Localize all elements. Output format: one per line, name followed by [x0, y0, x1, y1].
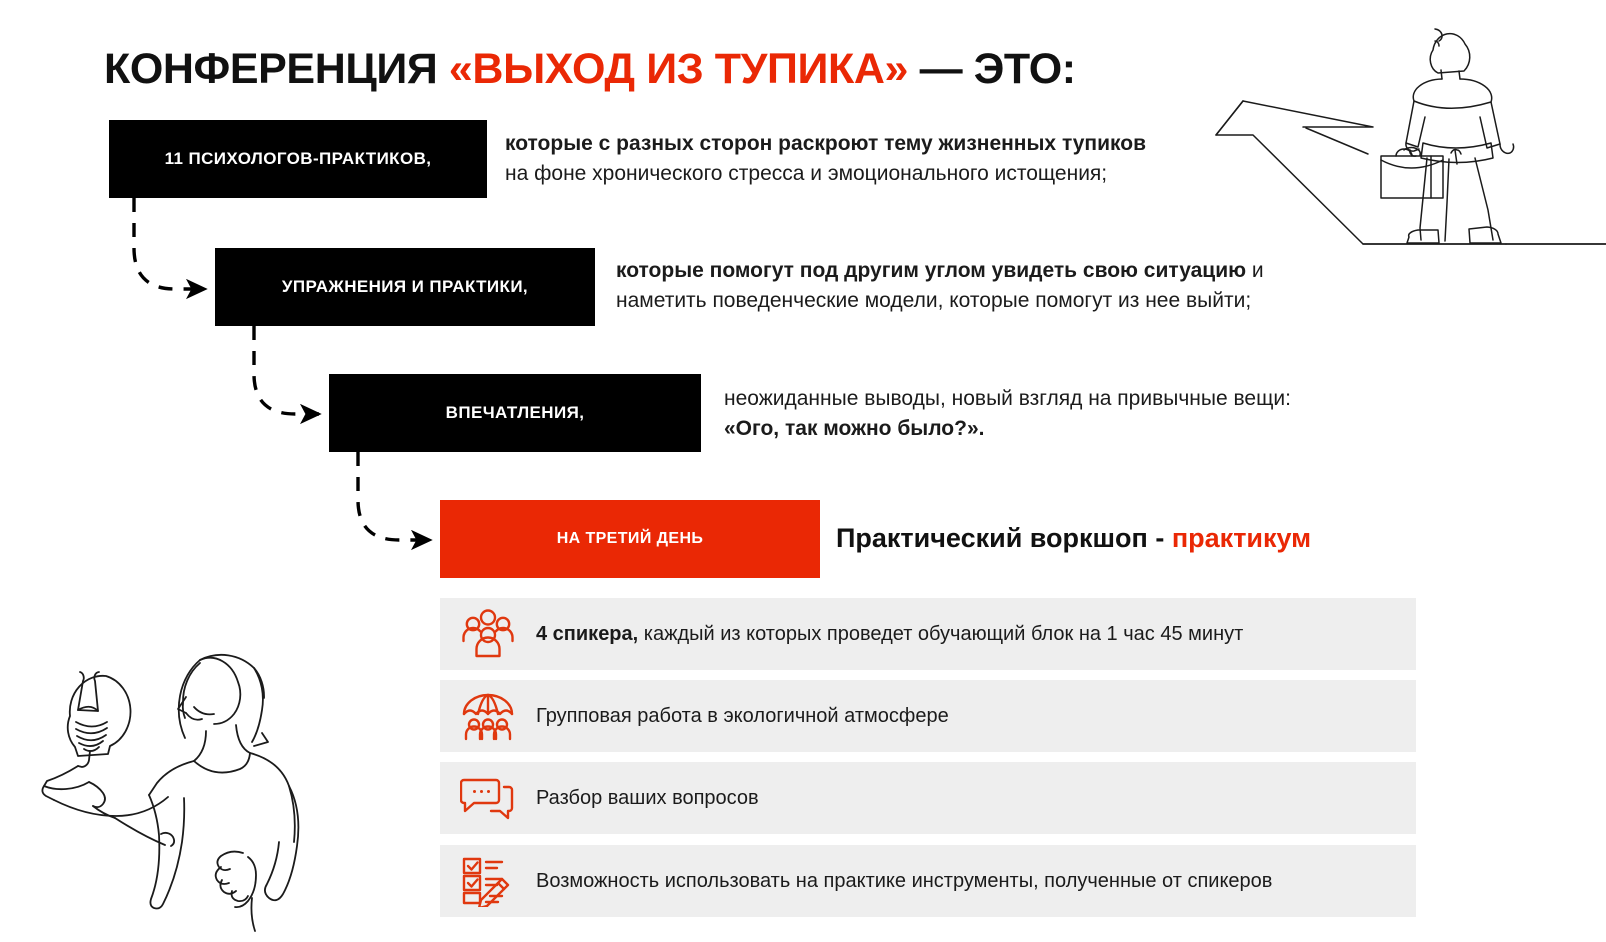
- man-with-briefcase-on-arrow-illustration: [1183, 0, 1606, 258]
- woman-with-lightbulb-illustration: [10, 585, 390, 942]
- feature-row-group-work[interactable]: Групповая работа в экологичной атмосфере: [440, 680, 1416, 752]
- flow-description-psychologists: которые с разных сторон раскроют тему жи…: [505, 129, 1195, 189]
- umbrella-people-icon: [440, 690, 536, 742]
- title-accent: «ВЫХОД ИЗ ТУПИКА»: [449, 45, 908, 93]
- checklist-pencil-icon: [440, 855, 536, 907]
- feature-row-speakers[interactable]: 4 спикера, каждый из которых проведет об…: [440, 598, 1416, 670]
- feature-row-questions[interactable]: Разбор ваших вопросов: [440, 762, 1416, 834]
- flow-box-exercises[interactable]: УПРАЖНЕНИЯ И ПРАКТИКИ,: [215, 248, 595, 326]
- desc-1-bold: которые с разных сторон раскроют тему жи…: [505, 132, 1146, 155]
- speech-bubbles-icon: [440, 774, 536, 822]
- feature-label-tools: Возможность использовать на практике инс…: [536, 868, 1272, 894]
- desc-2-bold: которые помогут под другим углом увидеть…: [616, 259, 1246, 282]
- flow-box-impressions[interactable]: ВПЕЧАТЛЕНИЯ,: [329, 374, 701, 452]
- feature-label-questions: Разбор ваших вопросов: [536, 785, 759, 811]
- flow-description-impressions: неожиданные выводы, новый взгляд на прив…: [724, 384, 1324, 444]
- workshop-text: Практический воркшоп -: [836, 523, 1172, 553]
- feature-0-bold: 4 спикера,: [536, 623, 638, 645]
- workshop-headline: Практический воркшоп - практикум: [836, 523, 1311, 554]
- desc-3-bold: «Ого, так можно было?».: [724, 417, 984, 440]
- feature-0-rest: каждый из которых проведет обучающий бло…: [638, 623, 1243, 645]
- connector-2-to-3: [254, 326, 319, 414]
- title-after: — ЭТО:: [908, 45, 1076, 93]
- flow-description-exercises: которые помогут под другим углом увидеть…: [616, 256, 1296, 316]
- feature-3-rest: Возможность использовать на практике инс…: [536, 870, 1272, 892]
- flow-box-third-day[interactable]: НА ТРЕТИЙ ДЕНЬ: [440, 500, 820, 578]
- page-title: КОНФЕРЕНЦИЯ «ВЫХОД ИЗ ТУПИКА» — ЭТО:: [104, 41, 1076, 97]
- connector-3-to-4: [358, 452, 430, 540]
- desc-3-rest: неожиданные выводы, новый взгляд на прив…: [724, 387, 1291, 410]
- workshop-accent: практикум: [1172, 523, 1311, 553]
- feature-1-rest: Групповая работа в экологичной атмосфере: [536, 705, 949, 727]
- feature-2-rest: Разбор ваших вопросов: [536, 787, 759, 809]
- connector-1-to-2: [134, 198, 205, 289]
- people-group-icon: [440, 608, 536, 660]
- desc-1-rest: на фоне хронического стресса и эмоционал…: [505, 162, 1107, 185]
- feature-label-speakers: 4 спикера, каждый из которых проведет об…: [536, 621, 1243, 647]
- title-before: КОНФЕРЕНЦИЯ: [104, 45, 449, 93]
- slide-canvas: КОНФЕРЕНЦИЯ «ВЫХОД ИЗ ТУПИКА» — ЭТО: 11 …: [0, 0, 1606, 942]
- feature-label-group-work: Групповая работа в экологичной атмосфере: [536, 703, 949, 729]
- flow-box-psychologists[interactable]: 11 ПСИХОЛОГОВ-ПРАКТИКОВ,: [109, 120, 487, 198]
- feature-row-tools[interactable]: Возможность использовать на практике инс…: [440, 845, 1416, 917]
